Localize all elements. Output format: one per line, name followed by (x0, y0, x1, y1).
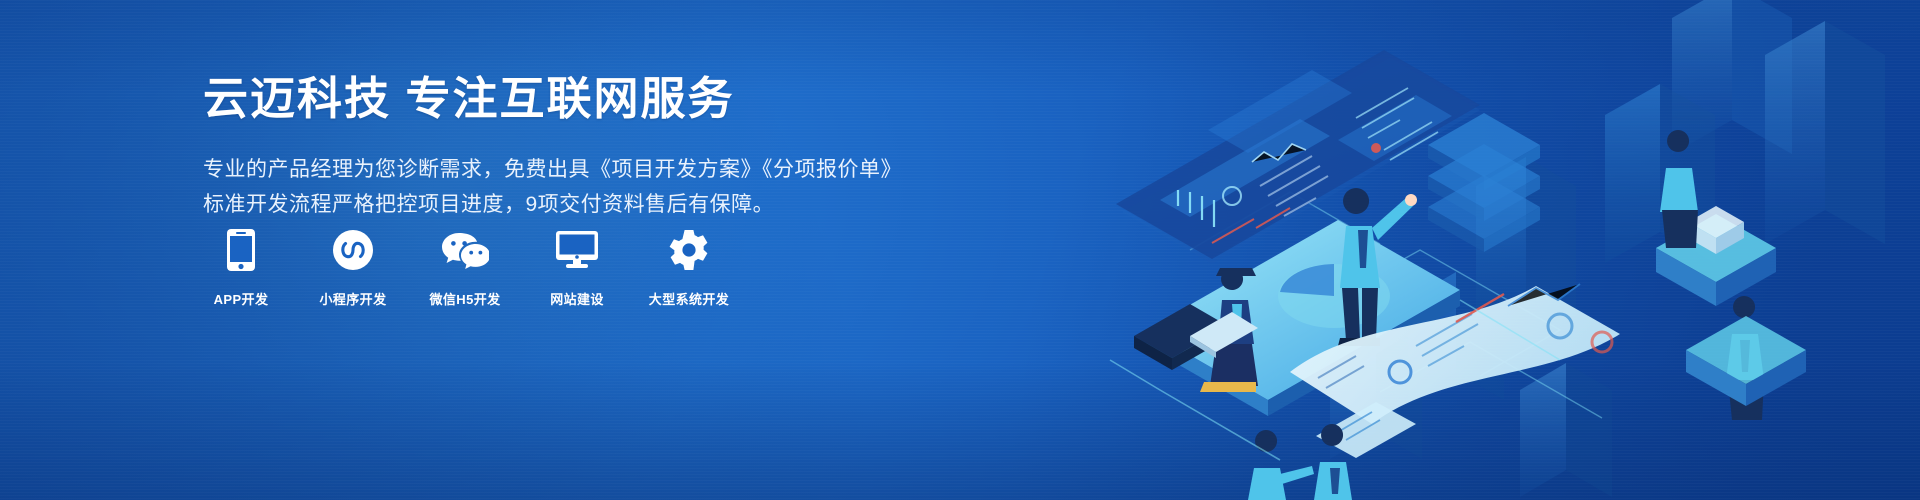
wechat-icon (441, 228, 489, 272)
service-item-large-system[interactable]: 大型系统开发 (651, 228, 727, 308)
page-title: 云迈科技 专注互联网服务 (203, 72, 903, 125)
service-label: 微信H5开发 (429, 289, 500, 308)
service-item-mini-program[interactable]: 小程序开发 (315, 228, 391, 308)
hero-banner: 云迈科技 专注互联网服务 专业的产品经理为您诊断需求，免费出具《项目开发方案》《… (0, 0, 1920, 500)
service-item-wechat-h5[interactable]: 微信H5开发 (427, 228, 503, 308)
gear-icon (667, 228, 711, 272)
isometric-data-dashboard-illustration (860, 0, 1920, 500)
service-label: 小程序开发 (319, 289, 386, 308)
mini-program-icon (332, 228, 374, 272)
hero-copy: 云迈科技 专注互联网服务 专业的产品经理为您诊断需求，免费出具《项目开发方案》《… (203, 72, 903, 222)
service-label: APP开发 (214, 289, 269, 308)
monitor-icon (555, 228, 599, 272)
service-item-website[interactable]: 网站建设 (539, 228, 615, 308)
hero-subtitle: 专业的产品经理为您诊断需求，免费出具《项目开发方案》《分项报价单》 标准开发流程… (203, 152, 903, 222)
service-item-app[interactable]: APP开发 (203, 228, 279, 308)
service-list: APP开发 小程序开发 微信 (203, 228, 727, 308)
subtitle-line-1: 专业的产品经理为您诊断需求，免费出具《项目开发方案》《分项报价单》 (203, 152, 903, 187)
service-label: 网站建设 (550, 289, 604, 308)
subtitle-line-2: 标准开发流程严格把控项目进度，9项交付资料售后有保障。 (203, 187, 903, 222)
service-label: 大型系统开发 (649, 289, 729, 308)
mobile-phone-icon (226, 228, 256, 272)
